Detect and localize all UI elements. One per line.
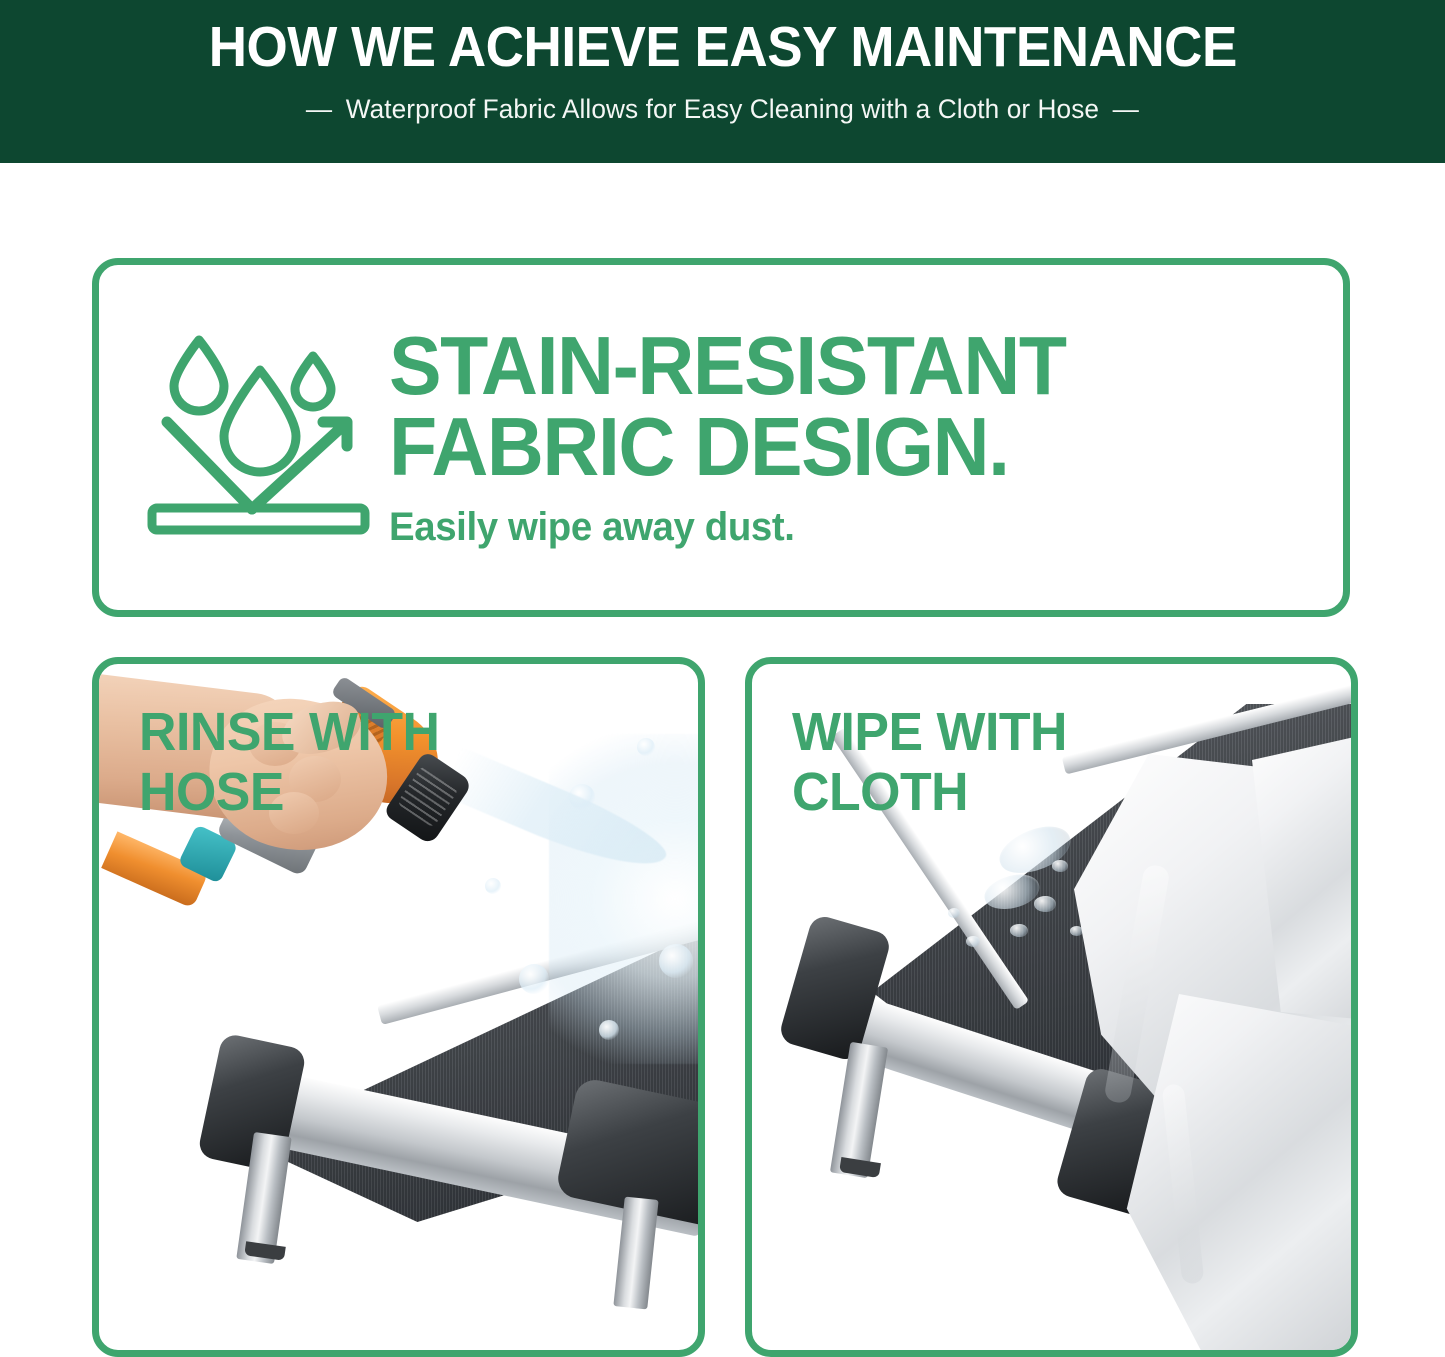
page-title: HOW WE ACHIEVE EASY MAINTENANCE <box>208 18 1236 78</box>
dash-right-decoration: — <box>1099 94 1152 125</box>
feature-headline-line1: STAIN-RESISTANT <box>389 325 1267 406</box>
water-splash-droplet <box>485 878 501 894</box>
water-droplet <box>966 936 980 947</box>
wipe-with-cloth-photo <box>752 664 1351 1350</box>
water-droplet <box>1052 860 1068 872</box>
feature-headline-line2: FABRIC DESIGN. <box>389 406 1267 487</box>
feature-card-text: STAIN-RESISTANT FABRIC DESIGN. Easily wi… <box>389 325 1343 551</box>
cot-leg-left <box>830 1042 888 1178</box>
water-splash-droplet <box>599 1020 619 1040</box>
water-droplet <box>1034 896 1056 912</box>
water-splash <box>549 734 698 1064</box>
water-splash-droplet <box>659 944 693 978</box>
water-droplet <box>1070 926 1083 936</box>
cot-leg-left-foot <box>839 1157 881 1178</box>
header-banner: HOW WE ACHIEVE EASY MAINTENANCE —Waterpr… <box>0 0 1445 163</box>
water-droplet <box>948 908 960 918</box>
rinse-with-hose-photo <box>99 664 698 1350</box>
water-splash-droplet <box>519 964 549 994</box>
step-card-wipe-with-cloth: WIPE WITH CLOTH <box>745 657 1358 1357</box>
water-repellent-fabric-icon-svg <box>147 329 379 547</box>
water-droplet <box>1010 924 1028 937</box>
feature-subline: Easily wipe away dust. <box>389 505 1276 550</box>
page-subtitle: —Waterproof Fabric Allows for Easy Clean… <box>292 94 1152 125</box>
page-subtitle-text: Waterproof Fabric Allows for Easy Cleani… <box>346 94 1099 124</box>
water-splash-droplet <box>637 738 655 756</box>
water-repellent-fabric-icon <box>99 329 389 547</box>
dash-left-decoration: — <box>292 94 345 125</box>
feature-card: STAIN-RESISTANT FABRIC DESIGN. Easily wi… <box>92 258 1350 617</box>
step-card-rinse-with-hose: RINSE WITH HOSE <box>92 657 705 1357</box>
knuckle <box>269 792 319 834</box>
